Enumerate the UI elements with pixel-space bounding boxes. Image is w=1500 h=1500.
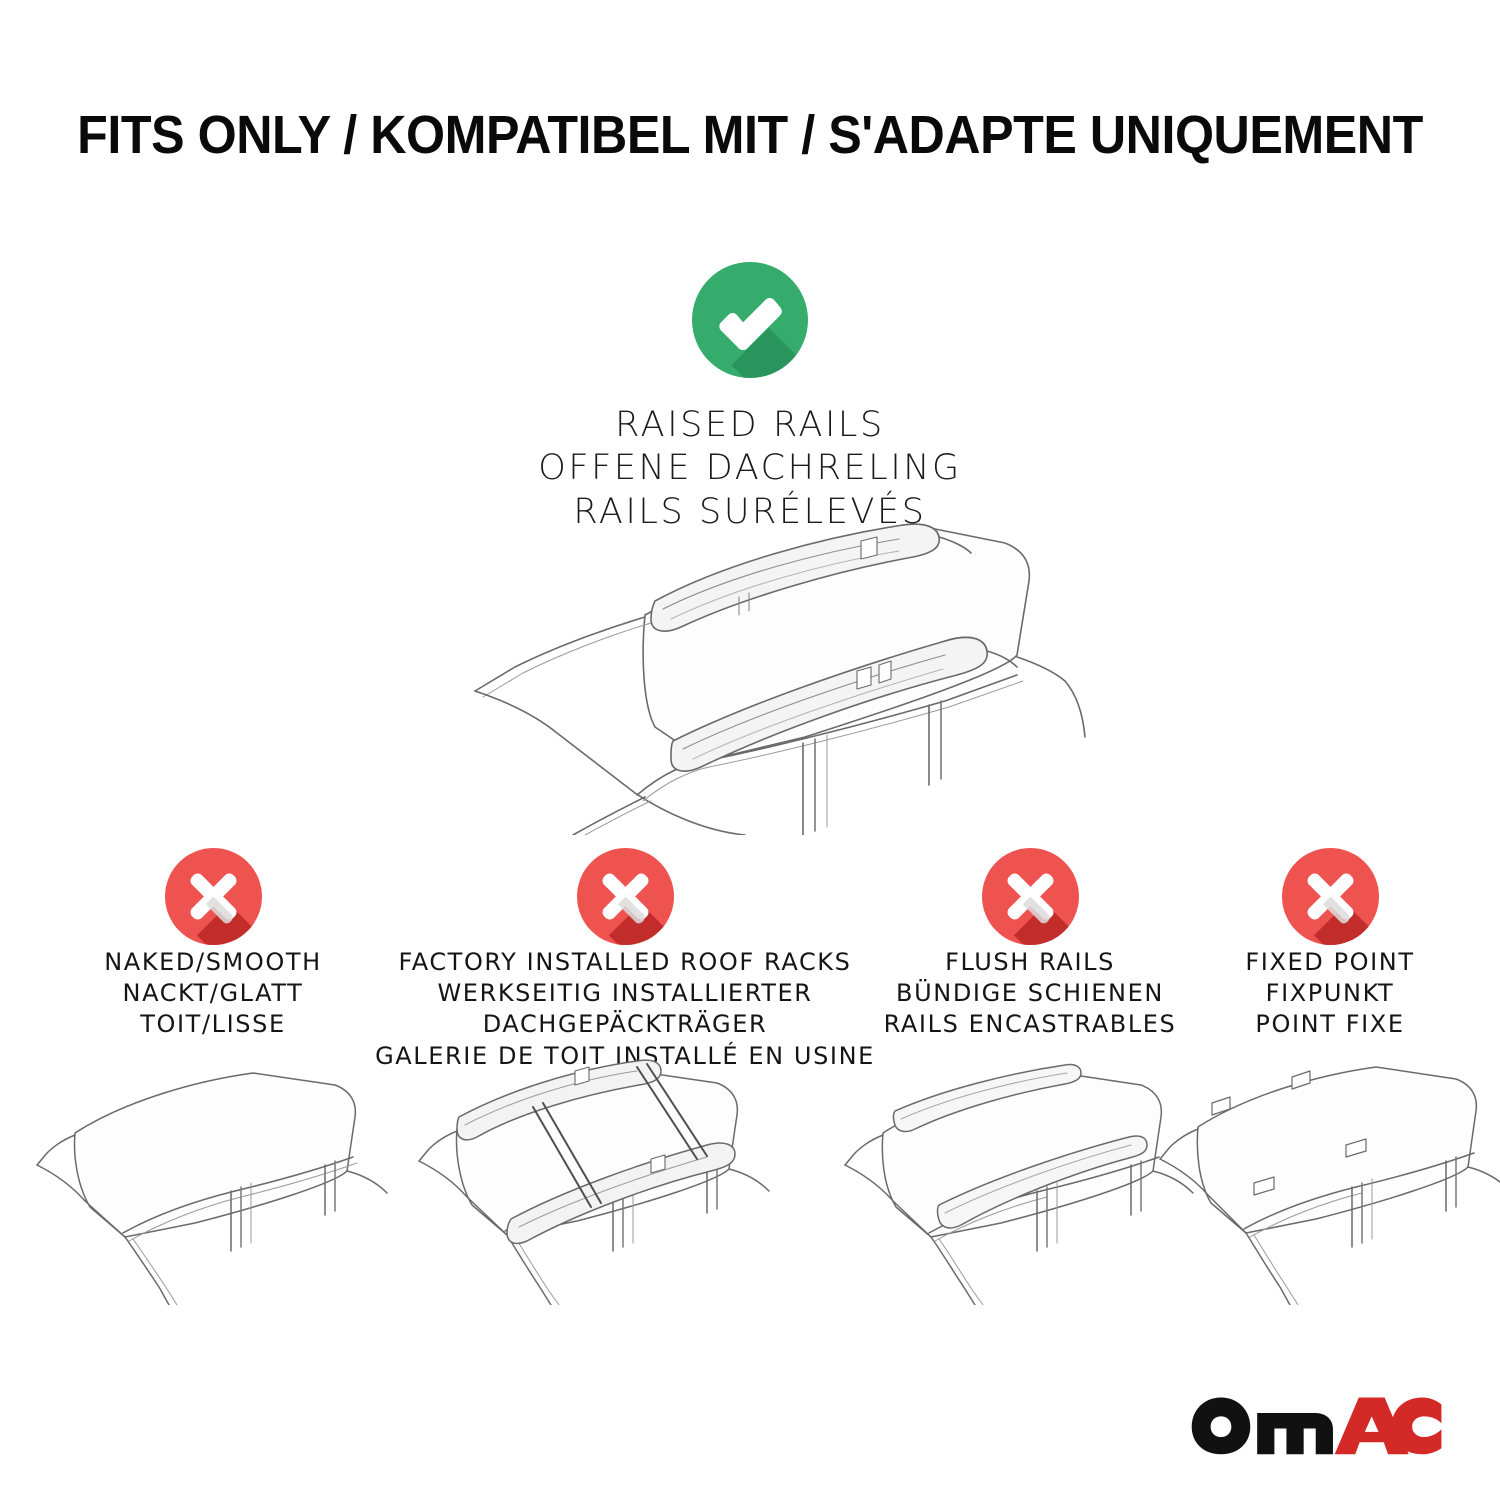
incompatible-label-3-fr: RAILS ENCASTRABLES <box>884 1009 1177 1040</box>
red-x-circle-icon <box>577 848 674 945</box>
x-mark-glyph <box>165 848 262 945</box>
red-x-circle-icon <box>982 848 1079 945</box>
incompatible-labels-2: FACTORY INSTALLED ROOF RACKS WERKSEITIG … <box>375 947 875 1072</box>
page-title: FITS ONLY / KOMPATIBEL MIT / S'ADAPTE UN… <box>53 104 1448 166</box>
incompatible-label-2-en: FACTORY INSTALLED ROOF RACKS <box>375 947 875 978</box>
compatible-section: RAISED RAILS OFFENE DACHRELING RAILS SUR… <box>0 262 1500 534</box>
car-roof-raised-rails-drawing <box>405 505 1105 835</box>
car-roof-fixed-point-drawing <box>1150 1055 1500 1305</box>
car-roof-naked-smooth-drawing <box>35 1055 425 1305</box>
green-check-circle-icon <box>692 262 808 378</box>
incompatible-label-4-de: FIXPUNKT <box>1245 978 1414 1009</box>
omac-logo <box>1190 1394 1448 1456</box>
incompatible-label-1-de: NACKT/GLATT <box>104 978 321 1009</box>
incompatible-label-3-de: BÜNDIGE SCHIENEN <box>884 978 1177 1009</box>
incompatible-column-factory-racks: FACTORY INSTALLED ROOF RACKS WERKSEITIG … <box>525 848 725 945</box>
compatible-label-en: RAISED RAILS <box>538 404 962 447</box>
x-mark-glyph <box>982 848 1079 945</box>
red-x-circle-icon <box>1282 848 1379 945</box>
check-mark-glyph <box>692 262 808 378</box>
incompatible-column-fixed-point: FIXED POINT FIXPUNKT POINT FIXE <box>1230 848 1430 945</box>
compatible-label-de: OFFENE DACHRELING <box>538 447 962 490</box>
incompatible-label-4-en: FIXED POINT <box>1245 947 1414 978</box>
x-mark-glyph <box>577 848 674 945</box>
car-roof-factory-roof-racks-drawing <box>415 1055 805 1305</box>
incompatible-labels-3: FLUSH RAILS BÜNDIGE SCHIENEN RAILS ENCAS… <box>884 947 1177 1041</box>
incompatible-column-naked-smooth: NAKED/SMOOTH NACKT/GLATT TOIT/LISSE <box>113 848 313 945</box>
incompatible-label-2-de-1: WERKSEITIG INSTALLIERTER <box>375 978 875 1009</box>
red-x-circle-icon <box>165 848 262 945</box>
incompatible-labels-1: NAKED/SMOOTH NACKT/GLATT TOIT/LISSE <box>104 947 321 1041</box>
incompatible-column-flush-rails: FLUSH RAILS BÜNDIGE SCHIENEN RAILS ENCAS… <box>930 848 1130 945</box>
x-mark-glyph <box>1282 848 1379 945</box>
incompatible-label-1-fr: TOIT/LISSE <box>104 1009 321 1040</box>
incompatible-label-4-fr: POINT FIXE <box>1245 1009 1414 1040</box>
incompatible-labels-4: FIXED POINT FIXPUNKT POINT FIXE <box>1245 947 1414 1041</box>
incompatible-label-3-en: FLUSH RAILS <box>884 947 1177 978</box>
fitment-info-graphic: FITS ONLY / KOMPATIBEL MIT / S'ADAPTE UN… <box>0 0 1500 1500</box>
incompatible-label-2-de-2: DACHGEPÄCKTRÄGER <box>375 1009 875 1040</box>
incompatible-label-1-en: NAKED/SMOOTH <box>104 947 321 978</box>
